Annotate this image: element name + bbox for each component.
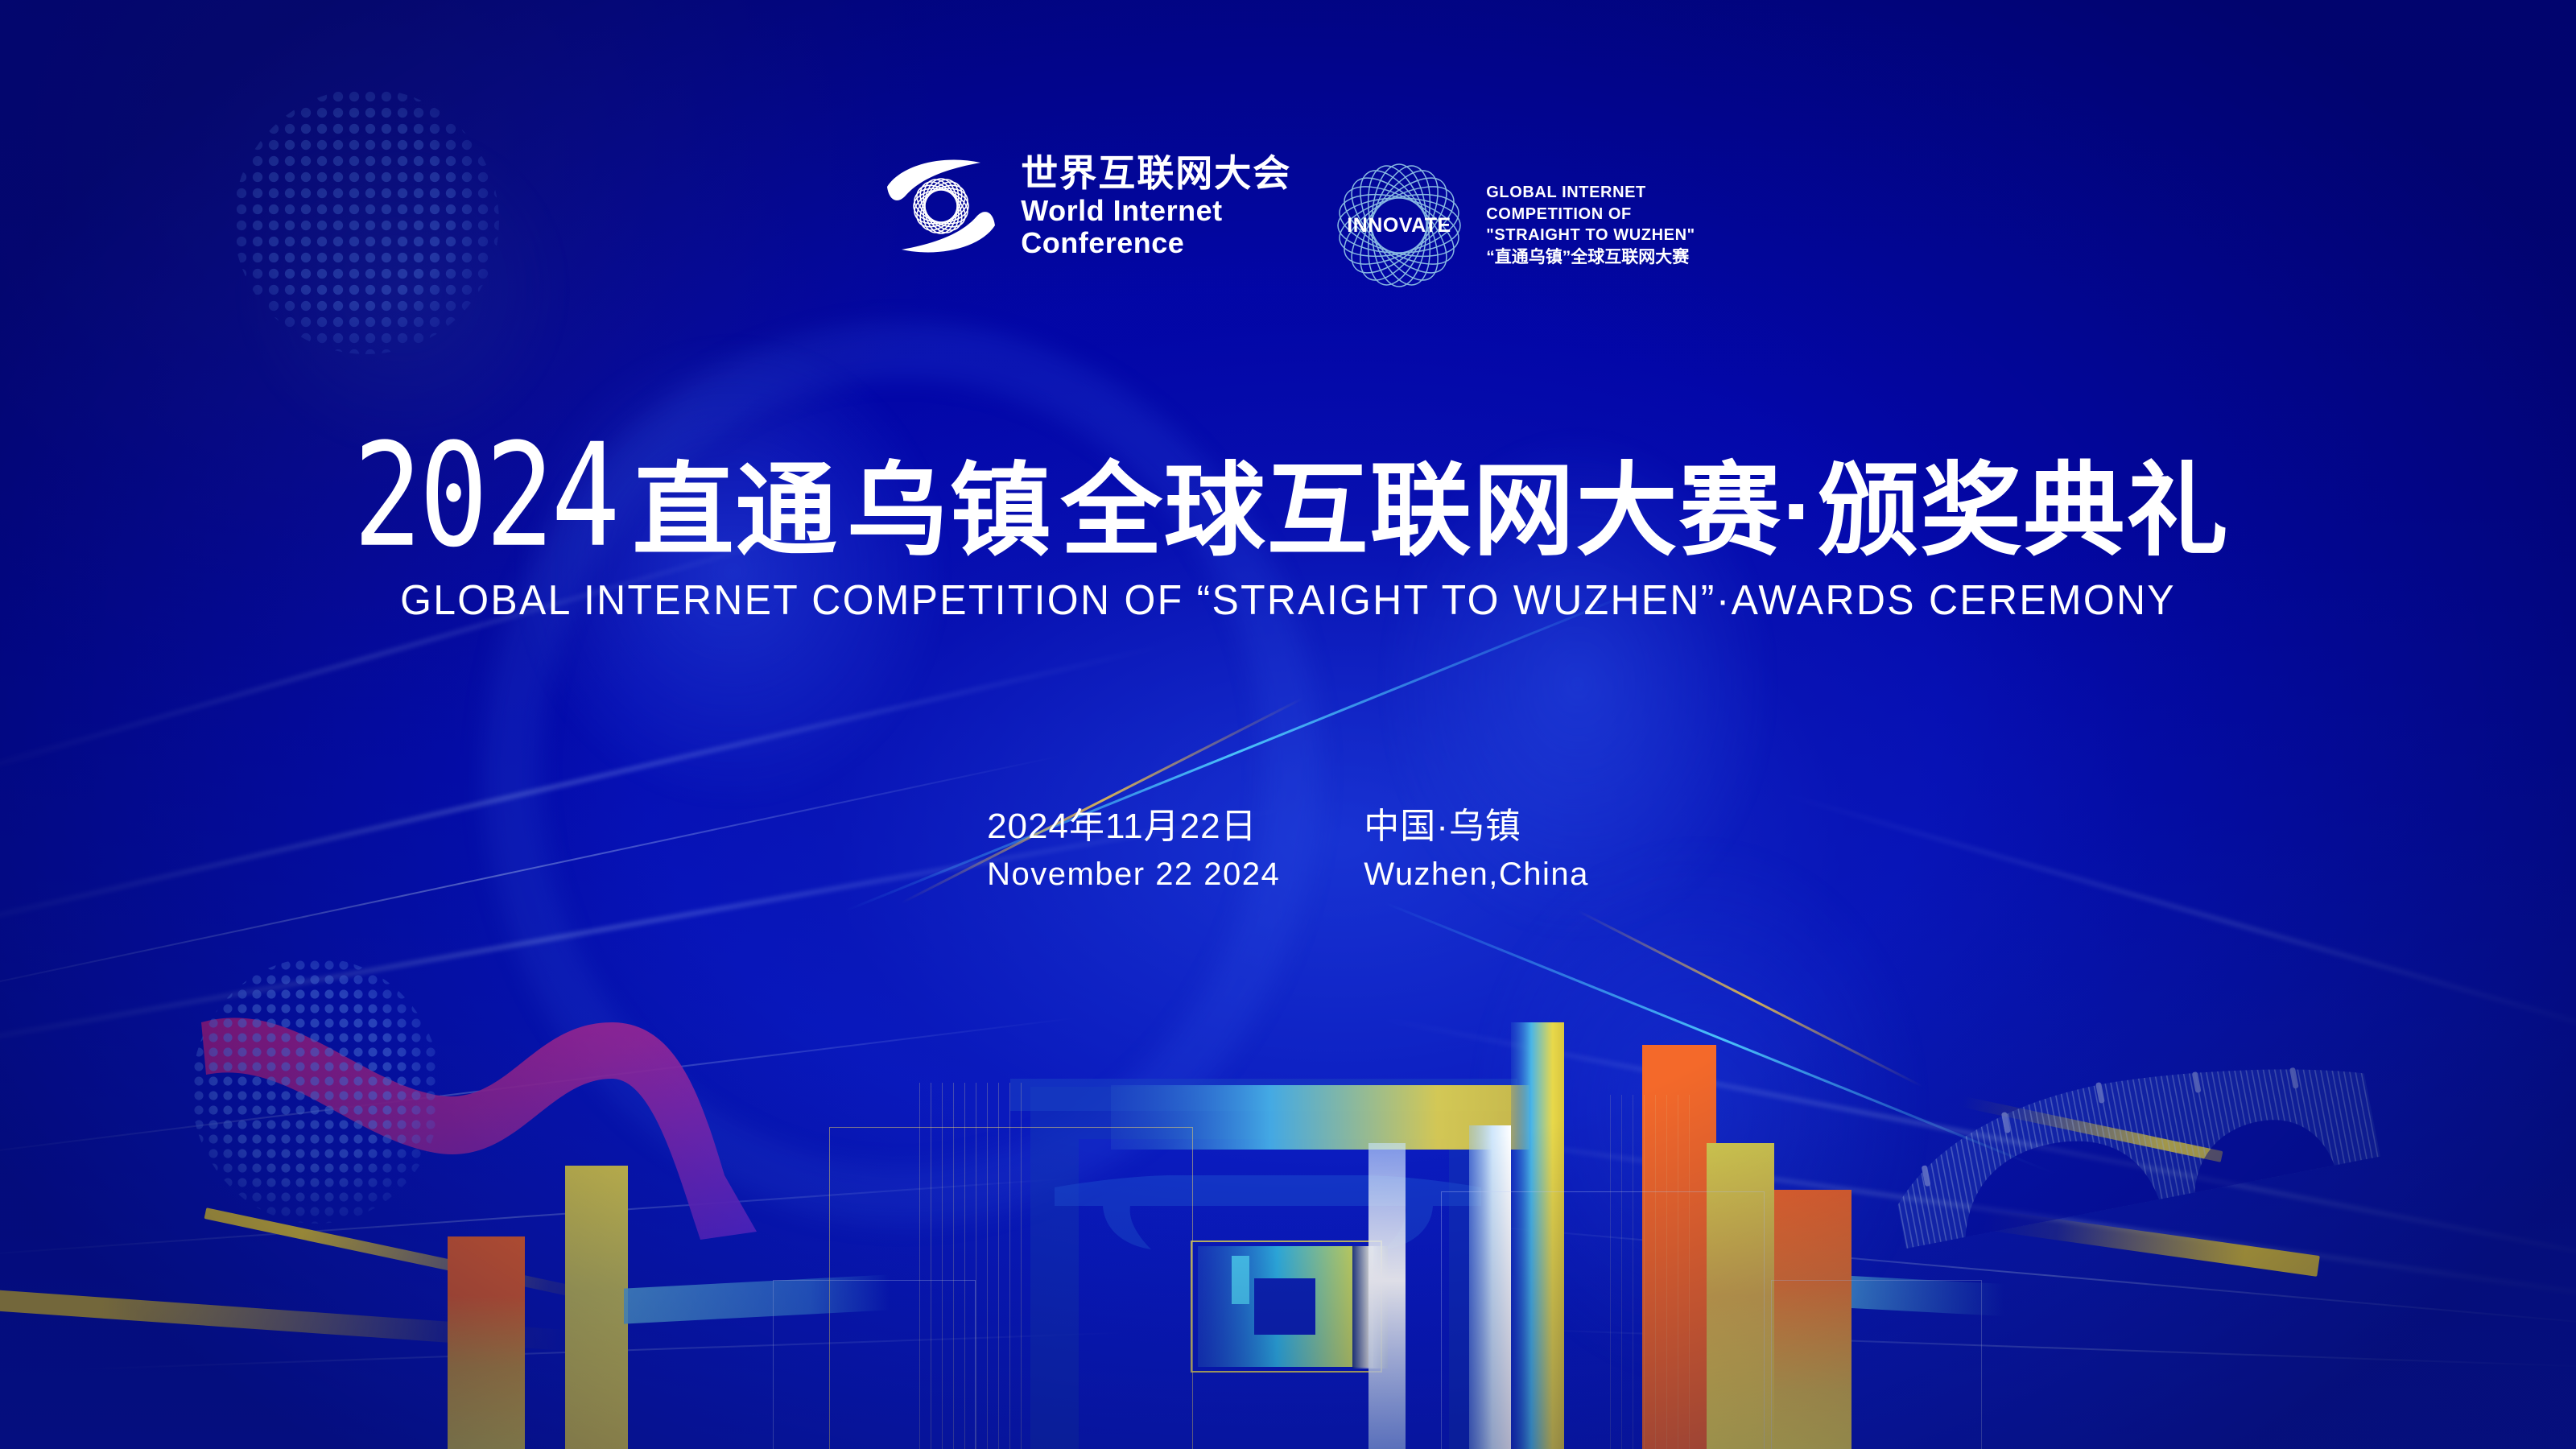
innovate-spirograph-logo: INNOVATE: [1327, 158, 1472, 293]
event-location: 中国·乌镇 Wuzhen,China: [1364, 797, 1589, 893]
innovate-en-line2: COMPETITION OF: [1486, 204, 1695, 225]
event-date: 2024年11月22日 November 22 2024: [987, 797, 1280, 893]
wic-logo: 世界互联网大会 World Internet Conference: [881, 153, 1291, 259]
innovate-en-line3: "STRAIGHT TO WUZHEN": [1486, 225, 1695, 246]
place-en: Wuzhen,China: [1364, 857, 1589, 893]
title-cn-part1: 直通: [633, 460, 839, 562]
wic-cn-name: 世界互联网大会: [1021, 153, 1291, 195]
date-cn: 2024年11月22日: [987, 797, 1280, 848]
innovate-en-line1: GLOBAL INTERNET: [1486, 182, 1695, 204]
poster-canvas: 世界互联网大会 World Internet Conference: [0, 0, 2576, 1449]
wic-en-line2: Conference: [1021, 227, 1291, 259]
title-cn-part2: 全球互联网大赛·颁奖典礼: [1061, 460, 2230, 562]
innovate-logo-block: INNOVATE GLOBAL INTERNET COMPETITION OF …: [1327, 158, 1695, 293]
place-cn: 中国·乌镇: [1364, 797, 1589, 848]
innovate-cn-line: “直通乌镇”全球互联网大赛: [1486, 246, 1695, 269]
header-logos: 世界互联网大会 World Internet Conference: [0, 153, 2576, 293]
innovate-wordmark: INNOVATE: [1348, 214, 1451, 237]
main-title-block: 2024 直通 乌镇 全球互联网大赛·颁奖典礼 GLOBAL INTERNET …: [0, 451, 2576, 625]
title-year: 2024: [353, 431, 617, 562]
wic-swoosh-spirograph-logo: [881, 155, 1001, 258]
event-meta: 2024年11月22日 November 22 2024 中国·乌镇 Wuzhe…: [0, 797, 2576, 893]
title-cn-brush: 乌镇: [847, 460, 1053, 562]
wic-en-line1: World Internet: [1021, 195, 1291, 227]
date-en: November 22 2024: [987, 857, 1280, 893]
title-en-subtitle: GLOBAL INTERNET COMPETITION OF “STRAIGHT…: [52, 576, 2524, 625]
